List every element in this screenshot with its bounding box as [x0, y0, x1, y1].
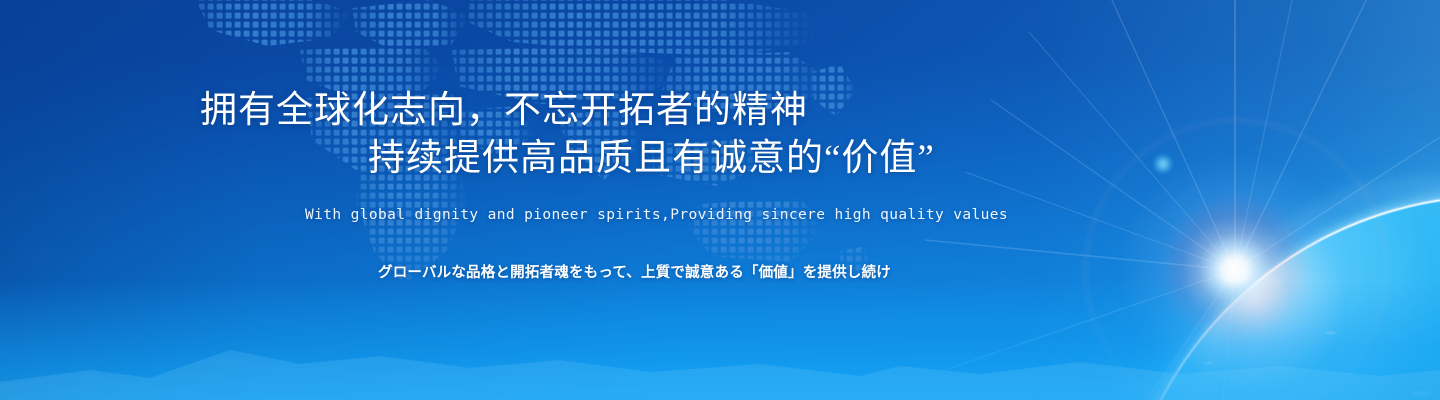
headline-line-1: 拥有全球化志向，不忘开拓者的精神 [200, 92, 808, 129]
subtitle-english: With global dignity and pioneer spirits,… [305, 207, 1008, 223]
banner-copy: 拥有全球化志向，不忘开拓者的精神 持续提供高品质且有诚意的“价值” With g… [0, 0, 1060, 400]
headline-line-2: 持续提供高品质且有诚意的“价值” [368, 140, 935, 177]
hero-banner: 拥有全球化志向，不忘开拓者的精神 持续提供高品质且有诚意的“价值” With g… [0, 0, 1440, 400]
subtitle-japanese: グローバルな品格と開拓者魂をもって、上質で誠意ある「価値」を提供し続け [378, 261, 891, 282]
lens-flare-orb [1153, 154, 1173, 174]
